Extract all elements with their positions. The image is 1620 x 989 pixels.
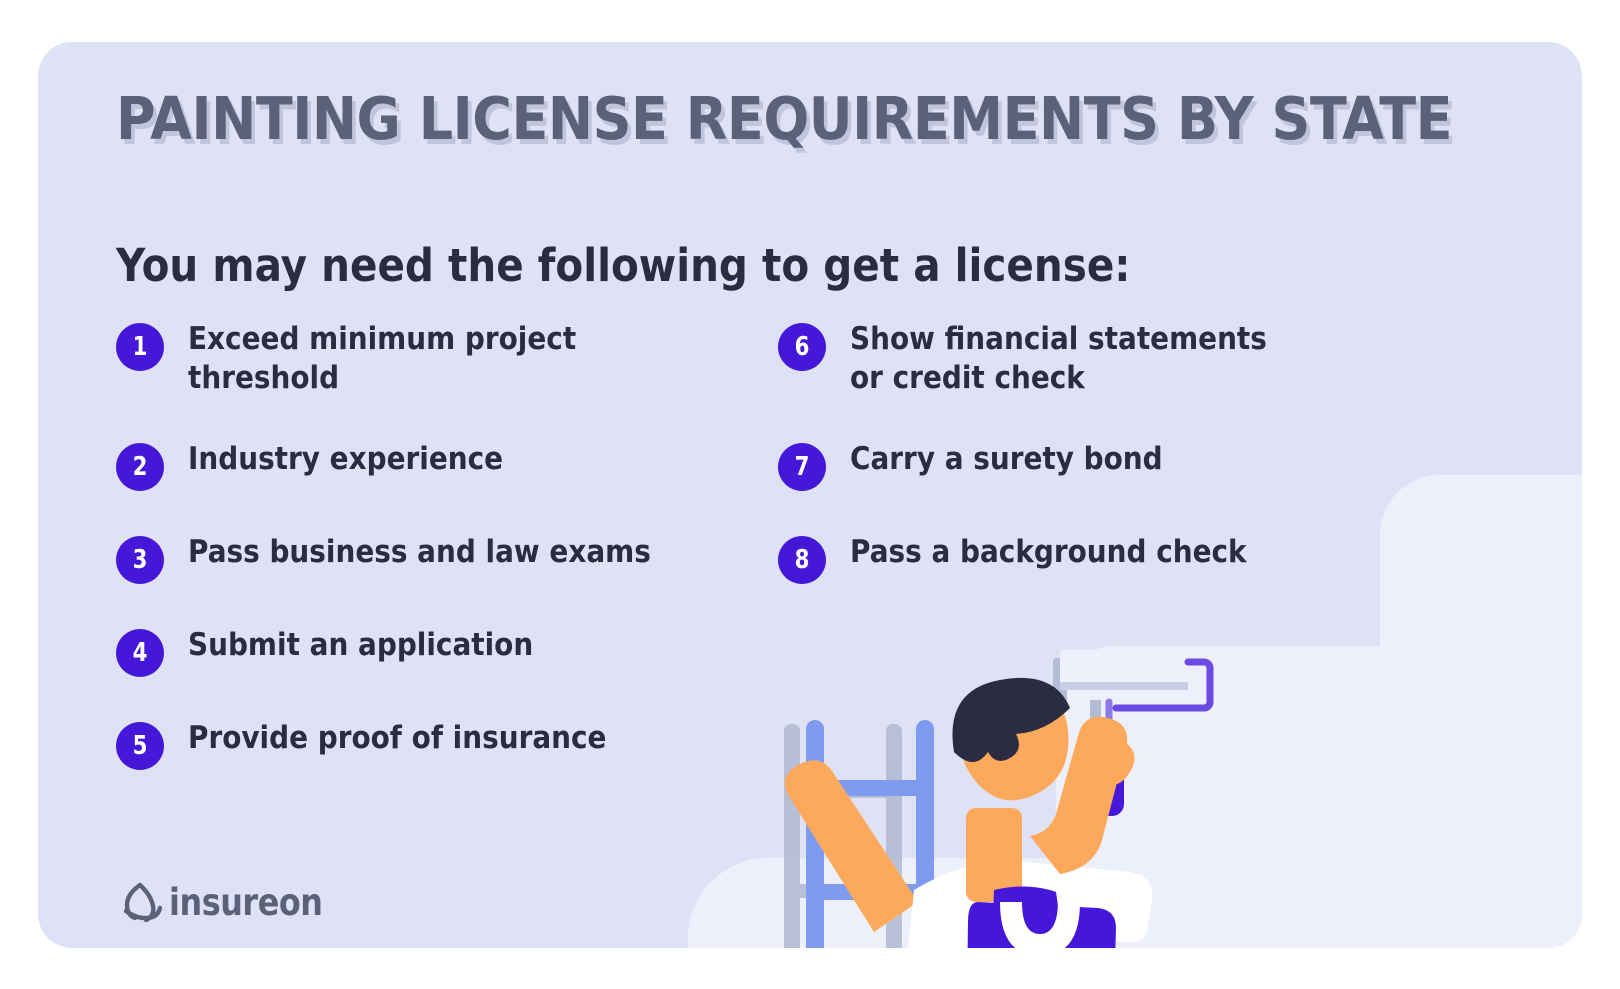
requirements-list-right: 6 Show financial statements or credit ch… <box>778 320 1338 626</box>
step-badge: 3 <box>116 536 164 584</box>
infographic-canvas: PAINTING LICENSE REQUIREMENTS BY STATE Y… <box>0 0 1620 989</box>
list-item-label: Carry a surety bond <box>850 440 1289 479</box>
list-item-label: Show financial statements or credit chec… <box>850 320 1289 398</box>
list-item: 6 Show financial statements or credit ch… <box>778 320 1338 398</box>
painter-on-ladder-illustration <box>738 602 1258 948</box>
step-badge: 8 <box>778 536 826 584</box>
insureon-trefoil-icon <box>119 880 163 924</box>
list-item: 8 Pass a background check <box>778 533 1338 584</box>
step-badge: 4 <box>116 629 164 677</box>
step-badge: 1 <box>116 323 164 371</box>
step-number: 8 <box>795 536 810 584</box>
list-item: 1 Exceed minimum project threshold <box>116 320 756 398</box>
step-number: 7 <box>795 443 810 491</box>
infographic-card: PAINTING LICENSE REQUIREMENTS BY STATE Y… <box>38 42 1582 948</box>
background-panel-upper <box>1380 475 1582 948</box>
step-badge: 2 <box>116 443 164 491</box>
brand-logo: insureon <box>119 880 348 924</box>
list-item-label: Provide proof of insurance <box>188 719 699 758</box>
requirements-list-left: 1 Exceed minimum project threshold 2 Ind… <box>116 320 756 812</box>
brand-logo-text: insureon <box>169 881 323 924</box>
step-badge: 5 <box>116 722 164 770</box>
list-item-label: Pass a background check <box>850 533 1289 572</box>
list-item: 4 Submit an application <box>116 626 756 677</box>
painter-figure <box>785 678 1152 948</box>
step-number: 1 <box>133 323 148 371</box>
list-item-label: Industry experience <box>188 440 699 479</box>
step-badge: 6 <box>778 323 826 371</box>
step-badge: 7 <box>778 443 826 491</box>
page-title: PAINTING LICENSE REQUIREMENTS BY STATE <box>116 84 1397 153</box>
step-number: 6 <box>795 323 810 371</box>
list-item-label: Pass business and law exams <box>188 533 699 572</box>
list-item-label: Submit an application <box>188 626 699 665</box>
step-number: 3 <box>133 536 148 584</box>
list-item: 7 Carry a surety bond <box>778 440 1338 491</box>
list-item: 2 Industry experience <box>116 440 756 491</box>
list-item-label: Exceed minimum project threshold <box>188 320 699 398</box>
page-subtitle: You may need the following to get a lice… <box>116 239 1131 292</box>
step-number: 4 <box>133 629 148 677</box>
list-item: 3 Pass business and law exams <box>116 533 756 584</box>
list-item: 5 Provide proof of insurance <box>116 719 756 770</box>
step-number: 2 <box>133 443 148 491</box>
step-number: 5 <box>133 722 148 770</box>
